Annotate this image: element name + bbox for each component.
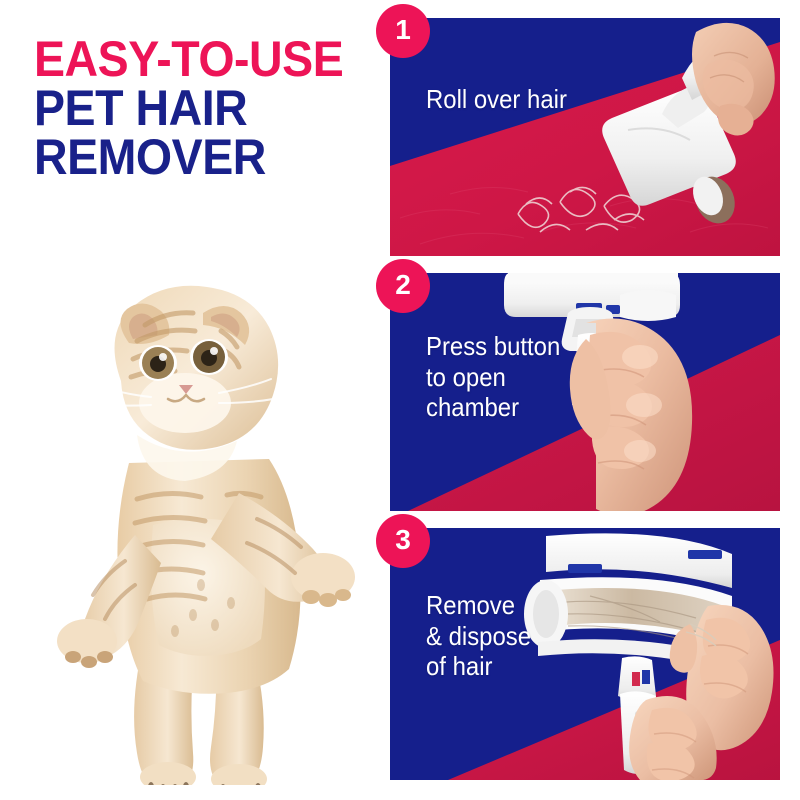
headline-line-2: PET HAIR — [34, 85, 350, 131]
step-3-badge: 3 — [376, 514, 430, 568]
step-panel-1: Roll over hair 1 — [390, 18, 780, 256]
step-2-caption: Press button to open chamber — [426, 331, 560, 423]
cat-photo — [25, 285, 365, 785]
page-title: EASY-TO-USE PET HAIR REMOVER — [34, 36, 374, 180]
step-3-caption: Remove & dispose of hair — [426, 590, 531, 682]
headline-line-1: EASY-TO-USE — [34, 36, 350, 82]
step-1-image — [390, 18, 780, 256]
cat-head — [95, 286, 278, 481]
step-panel-3: Remove & dispose of hair 3 — [390, 528, 780, 780]
step-1-badge: 1 — [376, 4, 430, 58]
step-panel-2: Press button to open chamber 2 — [390, 273, 780, 511]
step-1-caption: Roll over hair — [426, 84, 567, 115]
step-2-badge: 2 — [376, 259, 430, 313]
step-2-number: 2 — [395, 271, 411, 299]
headline-line-3: REMOVER — [34, 134, 350, 180]
step-1-number: 1 — [395, 16, 411, 44]
step-3-number: 3 — [395, 526, 411, 554]
